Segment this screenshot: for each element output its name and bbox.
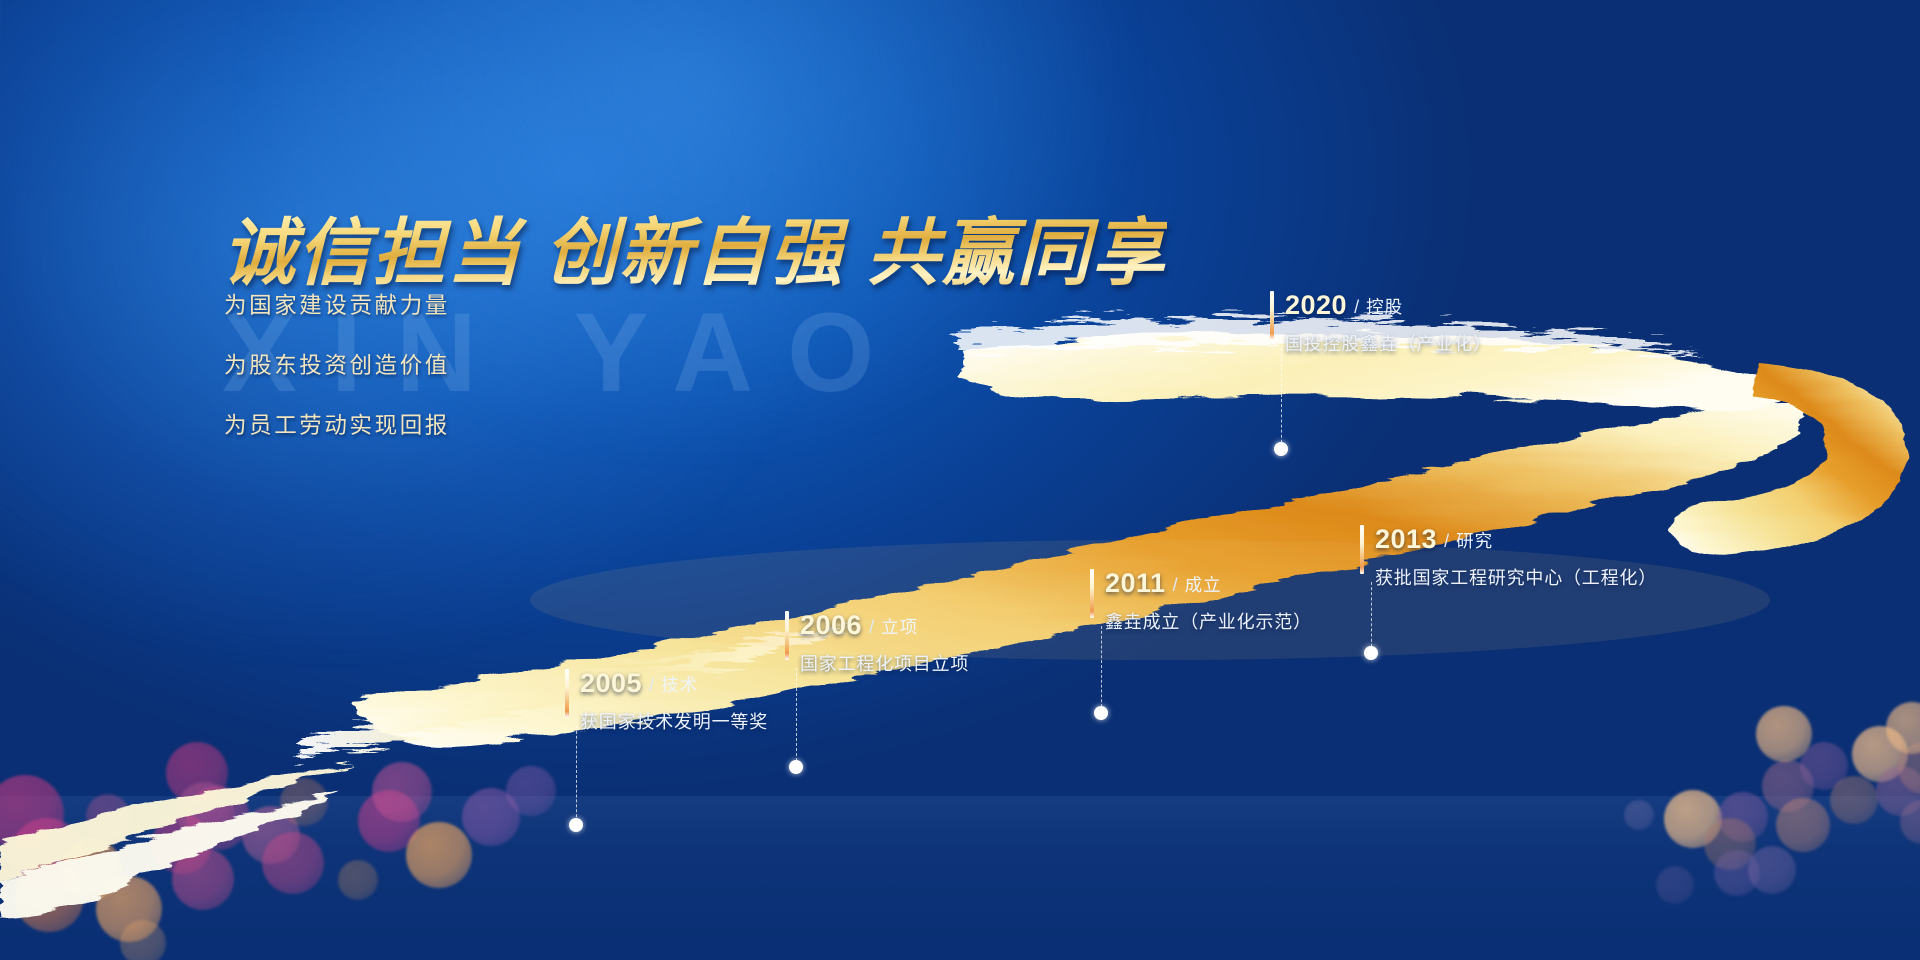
brush-stroke-ribbon [0, 0, 1920, 960]
milestone-dot[interactable] [1094, 706, 1108, 720]
milestone-leader-line [1101, 626, 1102, 712]
milestone-separator: / [1173, 575, 1178, 599]
timeline-milestone[interactable]: 2013/研究获批国家工程研究中心（工程化） [1375, 524, 1657, 590]
page-title: 诚信担当 创新自强 共赢同享 [222, 194, 1167, 300]
milestone-dot[interactable] [789, 760, 803, 774]
milestone-accent-bar [1090, 569, 1094, 618]
milestone-leader-line [796, 668, 797, 766]
slogan-line: 为员工劳动实现回报 [224, 408, 450, 440]
milestone-leader-line [1371, 582, 1372, 652]
milestone-tag: 技术 [661, 672, 698, 700]
milestone-dot[interactable] [569, 818, 583, 832]
timeline-milestone[interactable]: 2011/成立鑫垚成立（产业化示范） [1105, 568, 1312, 634]
milestone-year: 2005 [580, 668, 642, 699]
milestone-separator: / [649, 675, 654, 699]
milestone-tag: 控股 [1366, 294, 1403, 322]
milestone-header: 2005/技术 [580, 668, 768, 699]
milestone-tag: 成立 [1185, 572, 1222, 600]
timeline-milestone[interactable]: 2006/立项国家工程化项目立项 [800, 610, 969, 676]
milestone-accent-bar [1360, 525, 1364, 574]
milestone-accent-bar [785, 611, 789, 660]
milestone-accent-bar [565, 669, 569, 718]
milestone-header: 2013/研究 [1375, 524, 1657, 555]
milestone-header: 2006/立项 [800, 610, 969, 641]
milestone-separator: / [1354, 297, 1359, 321]
milestone-dot[interactable] [1364, 646, 1378, 660]
milestone-year: 2011 [1105, 568, 1166, 599]
milestone-description: 获国家技术发明一等奖 [580, 708, 768, 734]
milestone-description: 获批国家工程研究中心（工程化） [1375, 564, 1657, 590]
milestone-year: 2013 [1375, 524, 1437, 555]
milestone-year: 2020 [1285, 290, 1347, 321]
slogan-line: 为国家建设贡献力量 [224, 288, 450, 320]
slogan-list: 为国家建设贡献力量 为股东投资创造价值 为员工劳动实现回报 [224, 288, 450, 468]
milestone-description: 鑫垚成立（产业化示范） [1105, 608, 1312, 634]
milestone-description: 国家工程化项目立项 [800, 650, 969, 676]
milestone-leader-line [576, 726, 577, 822]
milestone-separator: / [1444, 531, 1449, 555]
banner-canvas: XIN YAO 诚信担当 创新自强 共赢同享 为国家建设贡献力量 为股东投资创造… [0, 0, 1920, 960]
timeline-milestone[interactable]: 2005/技术获国家技术发明一等奖 [580, 668, 768, 734]
milestone-header: 2020/控股 [1285, 290, 1492, 321]
milestone-dot[interactable] [1274, 442, 1288, 456]
milestone-separator: / [869, 617, 874, 641]
milestone-accent-bar [1270, 291, 1274, 340]
milestone-tag: 立项 [881, 614, 918, 642]
milestone-year: 2006 [800, 610, 862, 641]
milestone-leader-line [1281, 348, 1282, 448]
slogan-line: 为股东投资创造价值 [224, 348, 450, 380]
milestone-tag: 研究 [1456, 528, 1493, 556]
timeline-milestone[interactable]: 2020/控股国投控股鑫垚（产业化） [1285, 290, 1492, 356]
milestone-header: 2011/成立 [1105, 568, 1312, 599]
milestone-description: 国投控股鑫垚（产业化） [1285, 330, 1492, 356]
